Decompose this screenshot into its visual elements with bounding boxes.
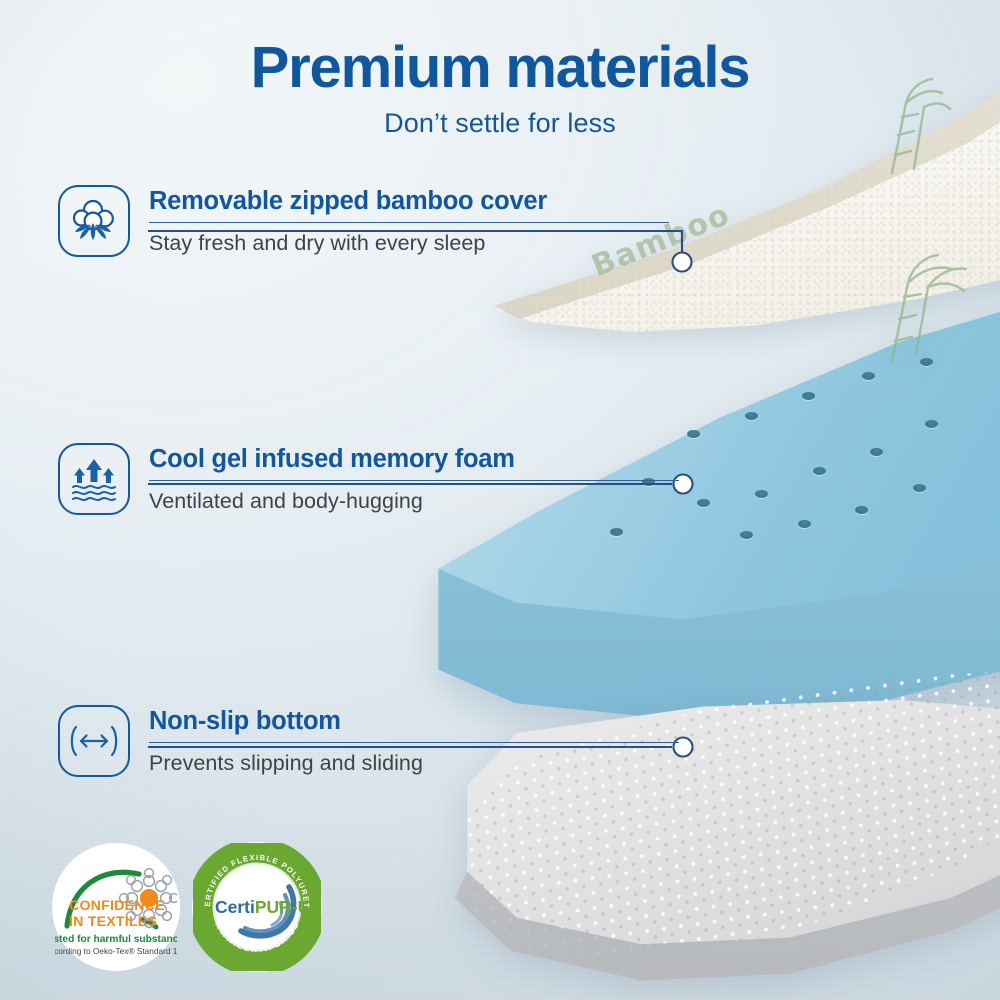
vent-hole xyxy=(740,531,753,539)
certipur-word-2: PUR-US xyxy=(255,897,321,917)
feature-subtitle: Stay fresh and dry with every sleep xyxy=(149,231,669,256)
feature-text: Non-slip bottom Prevents slipping and sl… xyxy=(149,705,679,776)
page-title: Premium materials xyxy=(0,38,1000,98)
feature-title: Non-slip bottom xyxy=(149,707,679,735)
feature-divider xyxy=(149,222,669,223)
feature-divider xyxy=(149,480,679,481)
feature-divider xyxy=(149,742,679,743)
product-infographic: Bamboo xyxy=(0,0,1000,1000)
vent-hole xyxy=(870,448,883,456)
vent-hole xyxy=(755,490,768,498)
vent-hole xyxy=(855,506,868,514)
page-subtitle: Don’t settle for less xyxy=(0,108,1000,139)
header: Premium materials Don’t settle for less xyxy=(0,38,1000,139)
feature-cool-gel-infused-memory-foam: Cool gel infused memory foam Ventilated … xyxy=(58,443,679,515)
bamboo-sprig-icon xyxy=(868,251,978,366)
horizontal-arrows-icon xyxy=(58,705,130,777)
cotton-boll-icon xyxy=(58,185,130,257)
certipur-us-badge: CertiPUR-US® CONTAINS CERTIFIED FLEXIBLE… xyxy=(192,842,322,972)
feature-removable-zipped-bamboo-cover: Removable zipped bamboo cover Stay fresh… xyxy=(58,185,669,257)
oeko-tex-badge: CONFIDENCE IN TEXTILES Tested for harmfu… xyxy=(52,843,180,971)
feature-title: Removable zipped bamboo cover xyxy=(149,187,669,215)
feature-non-slip-bottom: Non-slip bottom Prevents slipping and sl… xyxy=(58,705,679,777)
feature-subtitle: Prevents slipping and sliding xyxy=(149,751,679,776)
vent-hole xyxy=(802,392,815,400)
feature-subtitle: Ventilated and body-hugging xyxy=(149,489,679,514)
feature-title: Cool gel infused memory foam xyxy=(149,445,679,473)
vent-hole xyxy=(913,484,926,492)
certification-badges: CONFIDENCE IN TEXTILES Tested for harmfu… xyxy=(52,842,322,972)
oeko-tex-line1: CONFIDENCE xyxy=(69,898,165,914)
vent-hole xyxy=(925,420,938,428)
vent-hole xyxy=(798,520,811,528)
vent-hole xyxy=(813,467,826,475)
vent-hole xyxy=(745,412,758,420)
feature-text: Cool gel infused memory foam Ventilated … xyxy=(149,443,679,514)
airflow-waves-icon xyxy=(58,443,130,515)
vent-hole xyxy=(687,430,700,438)
vent-hole xyxy=(697,499,710,507)
vent-hole xyxy=(610,528,623,536)
oeko-tex-line2: IN TEXTILES xyxy=(69,914,157,930)
feature-text: Removable zipped bamboo cover Stay fresh… xyxy=(149,185,669,256)
certipur-word-1: Certi xyxy=(215,897,255,917)
oeko-tex-line3: Tested for harmful substances xyxy=(55,934,177,945)
oeko-tex-line4: according to Oeko-Tex® Standard 100 xyxy=(55,946,177,956)
